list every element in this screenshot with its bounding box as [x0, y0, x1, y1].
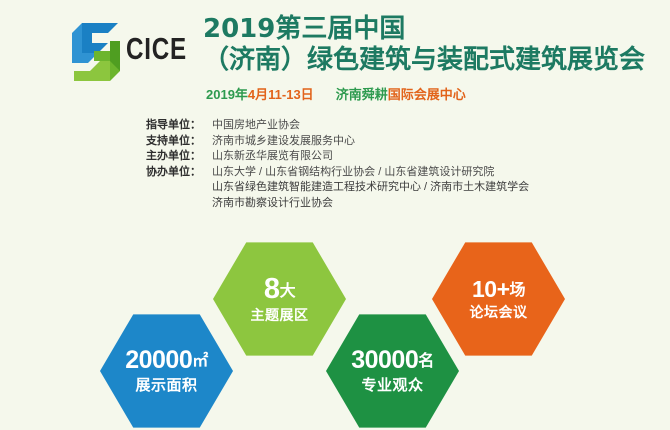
organizer-label: 支持单位： [146, 134, 212, 150]
organizer-value: 济南市城乡建设发展服务中心 [212, 134, 355, 150]
stat-unit: 名 [418, 353, 434, 370]
event-venue-name: 国际会展中心 [388, 87, 466, 102]
event-year: 2019年 [206, 87, 248, 102]
stat-caption: 展示面积 [135, 377, 197, 395]
organizer-row: 支持单位： 济南市城乡建设发展服务中心 [146, 134, 529, 150]
event-date-venue: 2019年4月11-13日济南舜耕国际会展中心 [206, 86, 466, 103]
organizer-label: 协办单位： [146, 165, 212, 181]
stat-number: 30000名 [351, 347, 434, 373]
event-dates: 4月11-13日 [248, 87, 314, 102]
stat-hexagon-visitors: 30000名 专业观众 [326, 312, 459, 430]
organizer-label: 指导单位： [146, 118, 212, 134]
stat-caption: 专业观众 [361, 377, 423, 395]
organizer-value: 山东新丞华展览有限公司 [212, 149, 333, 165]
event-venue-city: 济南舜耕 [336, 87, 388, 102]
organizer-label: 主办单位： [146, 149, 212, 165]
organizer-value: 山东大学 / 山东省钢结构行业协会 / 山东省建筑设计研究院 [212, 165, 494, 181]
organizer-value: 中国房地产业协会 [212, 118, 300, 134]
organizer-continuation-line: 济南市勘察设计行业协会 [146, 196, 529, 212]
stat-hexagon-theme-zones: 8大 主题展区 [213, 240, 346, 358]
cice-hexagon-logo-icon [68, 19, 124, 85]
organizer-continuation-line: 山东省绿色建筑智能建造工程技术研究中心 / 济南市土木建筑学会 [146, 180, 529, 196]
organizer-list: 指导单位： 中国房地产业协会 支持单位： 济南市城乡建设发展服务中心 主办单位：… [146, 118, 529, 212]
stat-hexagon-forums: 10+场 论坛会议 [432, 240, 565, 358]
organizer-row: 指导单位： 中国房地产业协会 [146, 118, 529, 134]
organizer-row: 协办单位： 山东大学 / 山东省钢结构行业协会 / 山东省建筑设计研究院 [146, 165, 529, 181]
event-banner: CICE 2019第三届中国 （济南）绿色建筑与装配式建筑展览会 2019年4月… [0, 0, 670, 112]
event-title-line1: 2019第三届中国 [203, 14, 645, 44]
cice-wordmark: CICE [126, 33, 187, 64]
stat-caption: 论坛会议 [470, 304, 528, 321]
stat-hexagon-exhibition-area: 20000㎡ 展示面积 [100, 312, 233, 430]
stat-unit: ㎡ [192, 353, 208, 370]
event-title: 2019第三届中国 （济南）绿色建筑与装配式建筑展览会 [203, 14, 645, 76]
event-title-line2: （济南）绿色建筑与装配式建筑展览会 [203, 44, 645, 76]
organizer-row: 主办单位： 山东新丞华展览有限公司 [146, 149, 529, 165]
stats-hexagon-row: 20000㎡ 展示面积 8大 主题展区 30000名 专业观众 10+场 论坛会… [0, 230, 670, 429]
stat-unit: 大 [280, 283, 296, 300]
stat-unit: 场 [510, 282, 526, 299]
stat-number: 8大 [264, 274, 295, 304]
stat-caption: 主题展区 [251, 307, 309, 324]
stat-number: 10+场 [472, 277, 525, 301]
stat-number: 20000㎡ [125, 347, 208, 373]
